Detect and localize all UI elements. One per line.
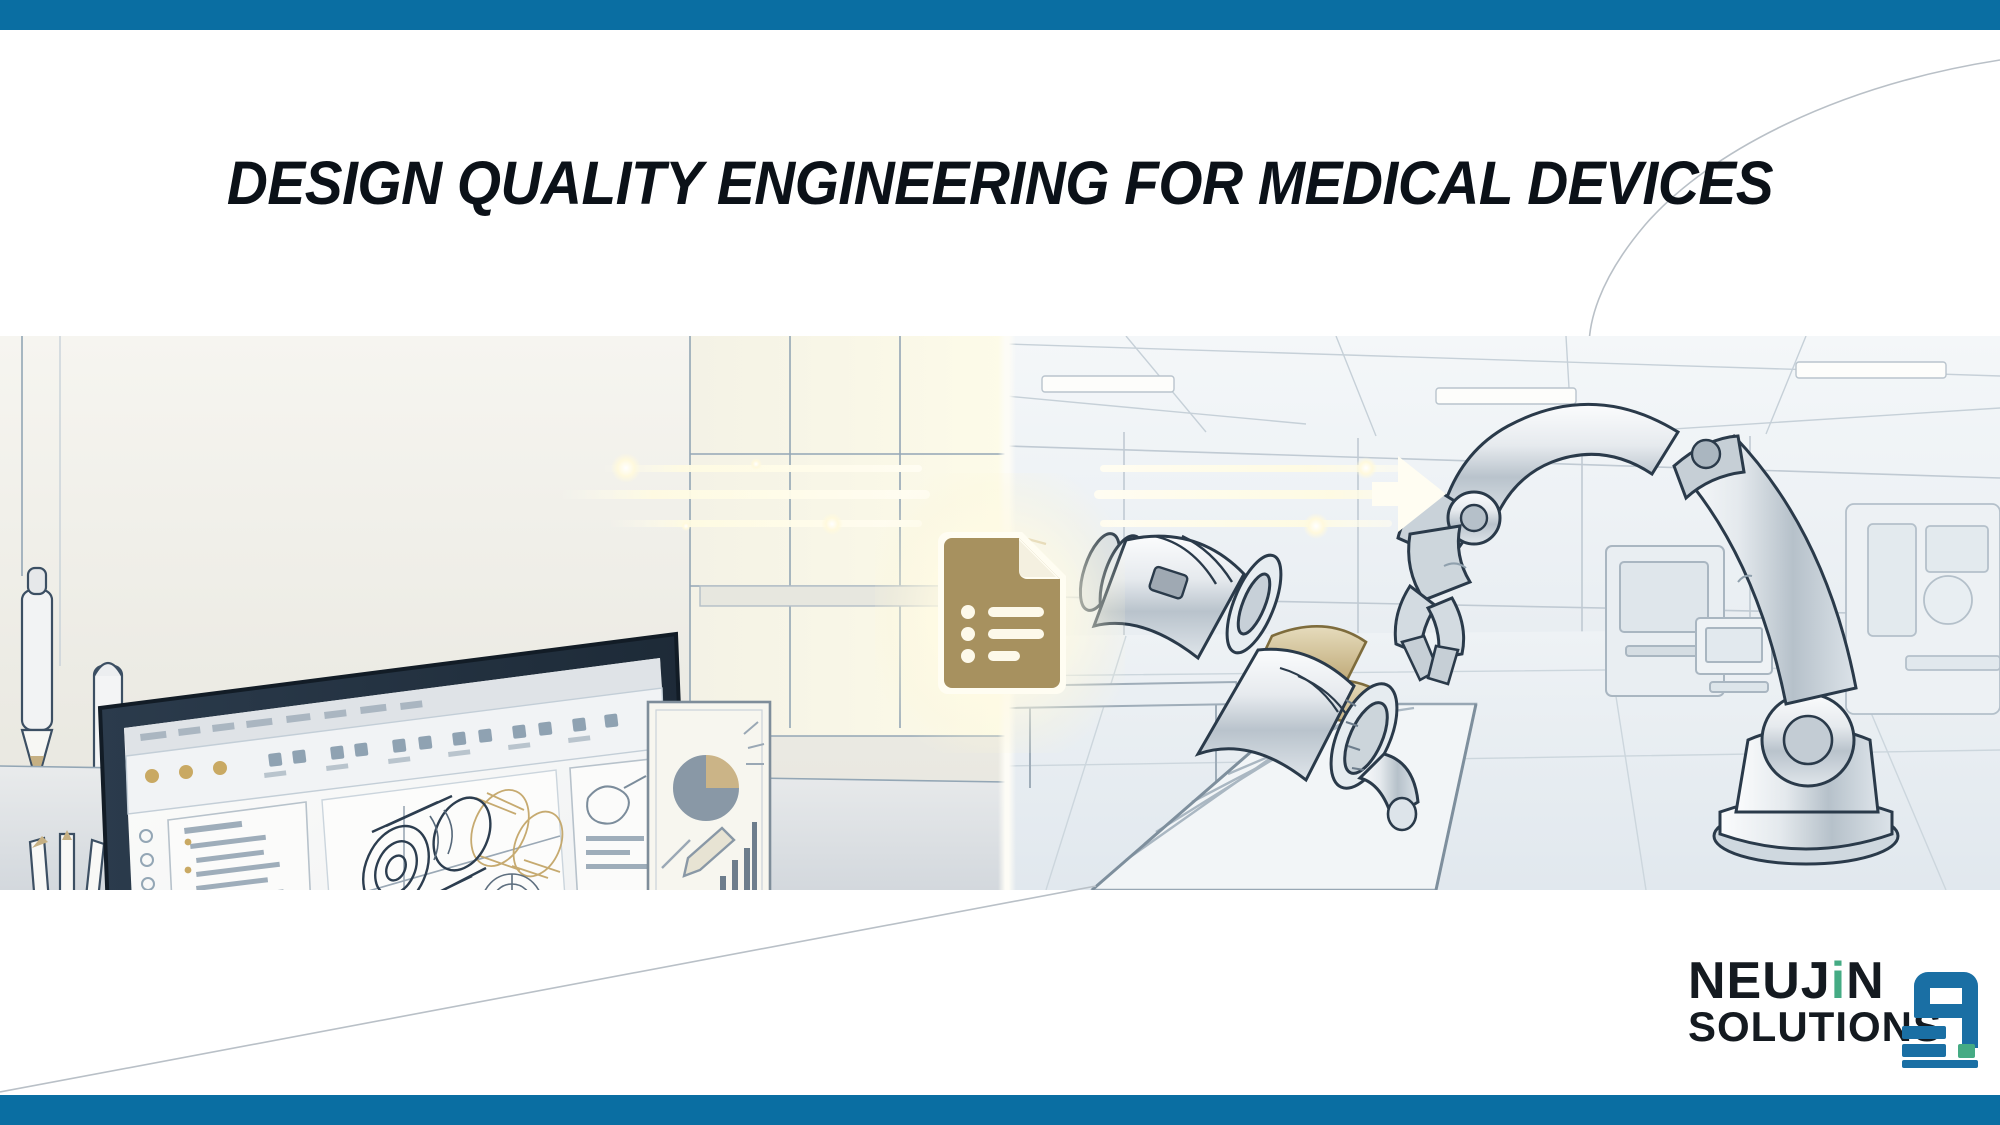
logo-mark-green-square	[1958, 1044, 1975, 1058]
logo-i-accent: i	[1831, 952, 1846, 1010]
illustration-left-panel	[0, 336, 1006, 890]
neujin-glyph-mark	[1900, 960, 1992, 1068]
illustration-right-panel	[1006, 336, 2000, 890]
document-checklist-icon	[938, 532, 1066, 694]
brand-logo: NEUJiN SOLUTIONS	[1688, 958, 1988, 1068]
design-transfer-document	[930, 528, 1070, 698]
logo-neujin-text: NEUJiN	[1688, 952, 1885, 1010]
top-brand-bar	[0, 0, 2000, 30]
decorative-diagonal-bottom-left	[0, 880, 1100, 1095]
wall-poster	[648, 702, 770, 890]
slide-canvas: DESIGN QUALITY ENGINEERING FOR MEDICAL D…	[0, 0, 2000, 1125]
bottom-brand-bar	[0, 1095, 2000, 1125]
page-title: DESIGN QUALITY ENGINEERING FOR MEDICAL D…	[70, 148, 1930, 218]
